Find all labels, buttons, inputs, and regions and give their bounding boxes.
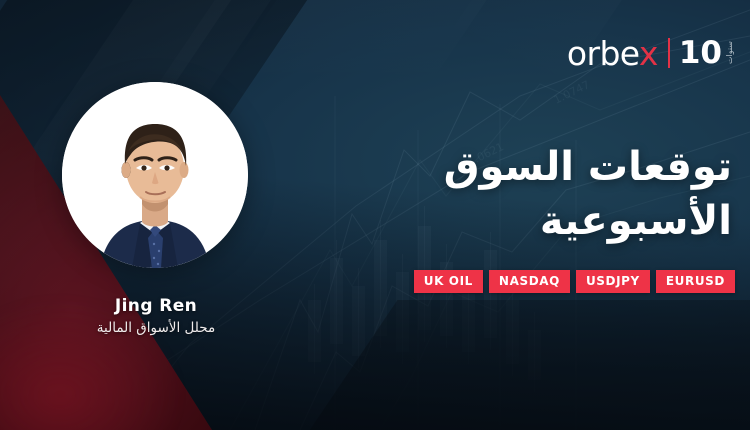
logo-years-label: سنوات [725,41,734,64]
analyst-avatar [62,82,248,268]
instrument-badge-uk-oil[interactable]: UK OIL [414,270,483,293]
logo-anniversary-number: 10 [679,38,722,69]
market-outlook-banner: 1.0747 1.0621 [0,0,750,430]
logo-anniversary-text: 10 [679,35,722,71]
logo-wordmark: orbex [567,37,658,70]
orbex-logo[interactable]: orbex 10 سنوات [567,33,734,73]
instrument-badge-usdjpy[interactable]: USDJPY [576,270,650,293]
analyst-role: محلل الأسواق المالية [40,318,272,338]
analyst-name: Jing Ren [40,296,272,316]
logo-x-accent: x [639,34,658,73]
logo-word-text: orbe [567,34,639,73]
instrument-badge-nasdaq[interactable]: NASDAQ [489,270,570,293]
instrument-badge-eurusd[interactable]: EURUSD [656,270,735,293]
page-title: توقعات السوق الأسبوعية [262,140,732,248]
logo-divider [668,38,670,68]
instrument-badge-list: UK OIL NASDAQ USDJPY EURUSD [414,270,735,293]
analyst-info: Jing Ren محلل الأسواق المالية [40,296,272,338]
